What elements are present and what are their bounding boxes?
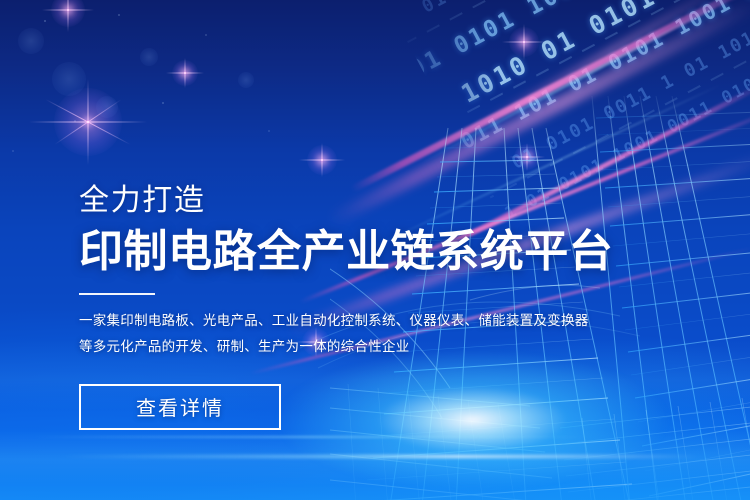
speed-streak: [60, 455, 700, 458]
view-details-button[interactable]: 查看详情: [79, 384, 281, 430]
hero-subtitle-line-1: 一家集印制电路板、光电产品、工业自动化控制系统、仪器仪表、储能装置及变换器: [79, 308, 679, 334]
hero-banner: 0101 001 01 0101 1001 0 1 0011 0101 01 0…: [0, 0, 750, 500]
speed-streak: [30, 436, 590, 438]
hero-headline: 印制电路全产业链系统平台: [79, 229, 679, 275]
hero-eyebrow: 全力打造: [79, 186, 679, 216]
title-divider: [79, 293, 155, 295]
hero-subtitle-line-2: 等多元化产品的开发、研制、生产为一体的综合性企业: [79, 334, 679, 360]
hero-subtitle: 一家集印制电路板、光电产品、工业自动化控制系统、仪器仪表、储能装置及变换器 等多…: [79, 308, 679, 360]
hero-content: 全力打造 印制电路全产业链系统平台 一家集印制电路板、光电产品、工业自动化控制系…: [79, 186, 679, 430]
